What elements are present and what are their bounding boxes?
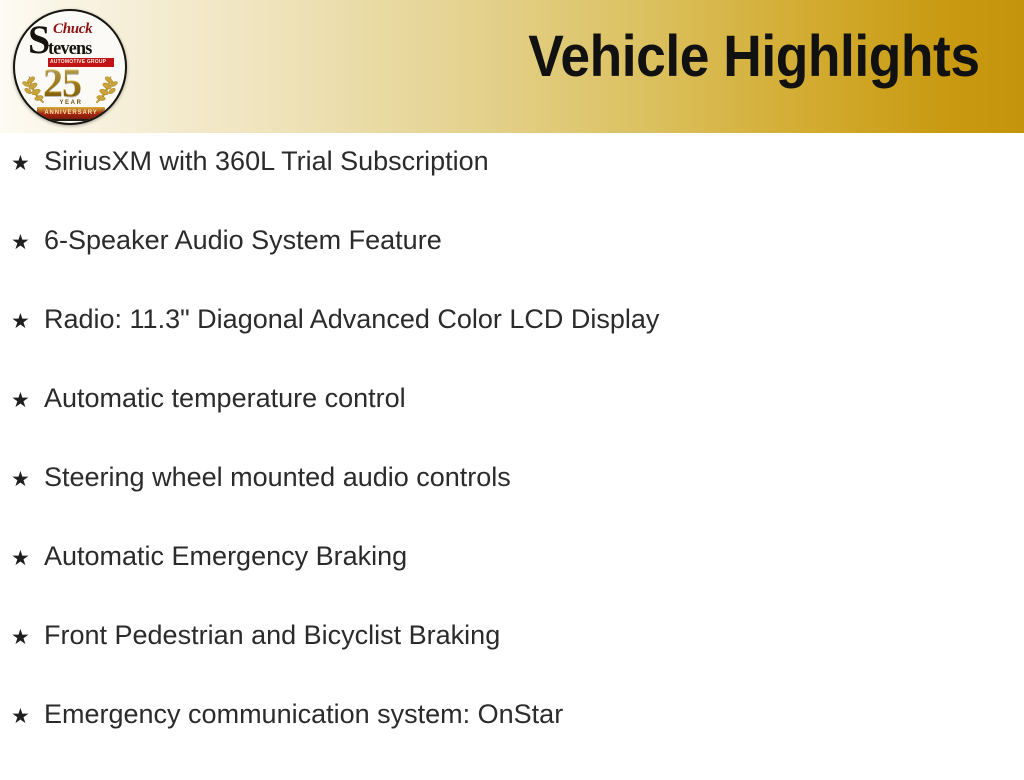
vehicle-highlights-slide: Vehicle Highlights S Chuck tevens AUTOMO… — [0, 0, 1024, 768]
list-item: ★ Radio: 11.3" Diagonal Advanced Color L… — [0, 306, 1024, 385]
dealer-logo: S Chuck tevens AUTOMOTIVE GROUP — [13, 9, 127, 125]
header-band: Vehicle Highlights — [0, 0, 1024, 133]
list-item: ★ Steering wheel mounted audio controls — [0, 464, 1024, 543]
logo-brand-initial: S — [28, 20, 50, 60]
list-item-label: Steering wheel mounted audio controls — [44, 464, 511, 491]
list-item-label: 6-Speaker Audio System Feature — [44, 227, 442, 254]
list-item: ★ SiriusXM with 360L Trial Subscription — [0, 148, 1024, 227]
star-bullet-icon: ★ — [11, 311, 44, 332]
list-item-label: Radio: 11.3" Diagonal Advanced Color LCD… — [44, 306, 659, 333]
logo-year-label: YEAR — [45, 100, 97, 106]
page-title: Vehicle Highlights — [529, 28, 980, 86]
list-item-label: SiriusXM with 360L Trial Subscription — [44, 148, 489, 175]
star-bullet-icon: ★ — [11, 153, 44, 174]
list-item-label: Emergency communication system: OnStar — [44, 701, 563, 728]
star-bullet-icon: ★ — [11, 627, 44, 648]
logo-artwork: S Chuck tevens AUTOMOTIVE GROUP — [15, 11, 125, 123]
star-bullet-icon: ★ — [11, 390, 44, 411]
list-item: ★ Automatic Emergency Braking — [0, 543, 1024, 622]
list-item: ★ 6-Speaker Audio System Feature — [0, 227, 1024, 306]
star-bullet-icon: ★ — [11, 706, 44, 727]
star-bullet-icon: ★ — [11, 469, 44, 490]
logo-bottom-arc — [37, 107, 103, 121]
list-item: ★ Front Pedestrian and Bicyclist Braking — [0, 622, 1024, 701]
list-item-label: Automatic temperature control — [44, 385, 406, 412]
list-item-label: Front Pedestrian and Bicyclist Braking — [44, 622, 500, 649]
list-item: ★ Emergency communication system: OnStar — [0, 701, 1024, 780]
star-bullet-icon: ★ — [11, 232, 44, 253]
list-item: ★ Automatic temperature control — [0, 385, 1024, 464]
vehicle-highlights-list: ★ SiriusXM with 360L Trial Subscription … — [0, 148, 1024, 780]
logo-brand-second-word: tevens — [48, 39, 92, 58]
star-bullet-icon: ★ — [11, 548, 44, 569]
logo-anniversary-number: 25 — [43, 63, 81, 103]
logo-brand-first-word: Chuck — [53, 22, 92, 37]
list-item-label: Automatic Emergency Braking — [44, 543, 407, 570]
